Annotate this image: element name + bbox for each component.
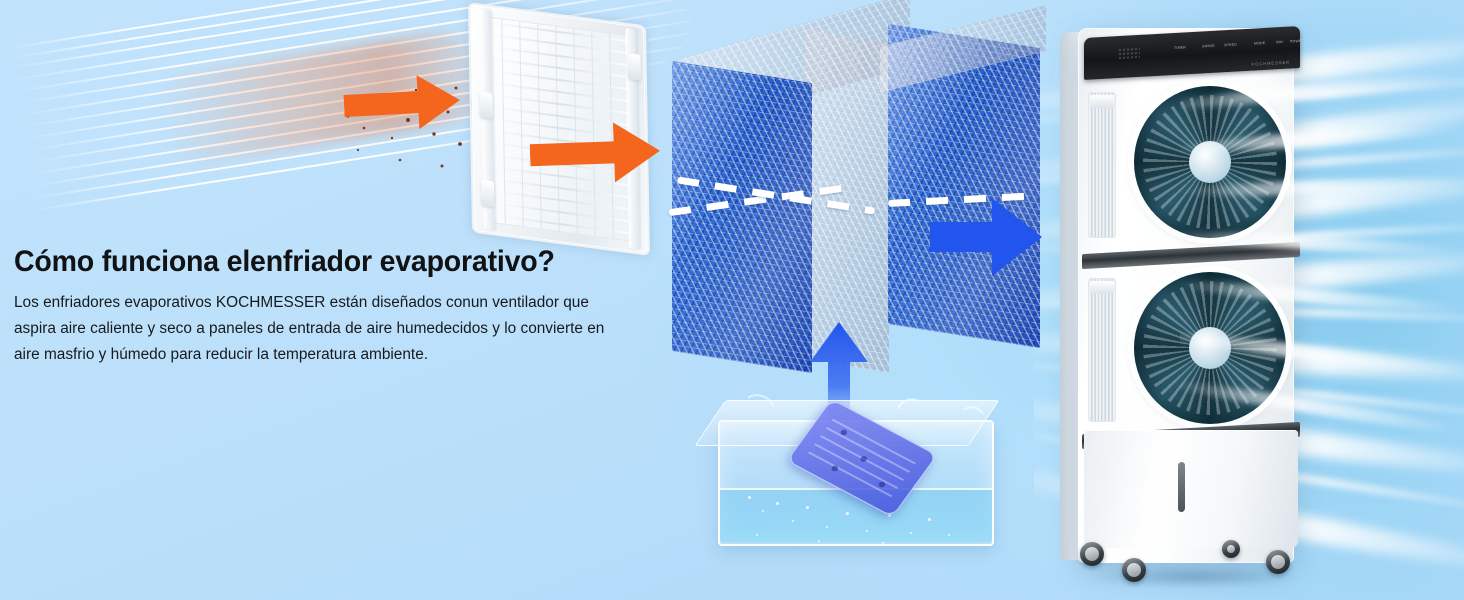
- cooling-pad-1: [672, 61, 812, 373]
- panel-button-speed[interactable]: SPEED: [1224, 42, 1237, 47]
- text-block: Cómo funciona elenfriador evaporativo? L…: [14, 246, 634, 368]
- hot-air-arrow-1: [342, 69, 461, 137]
- caster-4: [1266, 550, 1290, 574]
- caster-2: [1122, 558, 1146, 582]
- caster-1: [1080, 542, 1104, 566]
- page-title: Cómo funciona elenfriador evaporativo?: [14, 246, 603, 278]
- side-intake-vent-upper: [1088, 92, 1116, 238]
- hot-air-arrow-2: [529, 116, 661, 190]
- fan-upper: [1134, 86, 1286, 238]
- panel-button-mode[interactable]: MODE: [1254, 41, 1265, 46]
- evaporative-cooler-unit: TIMER SWING SPEED MODE ION POWER KOCHMES…: [1060, 10, 1310, 585]
- panel-button-ion[interactable]: ION: [1276, 40, 1283, 44]
- water-tank-drawer[interactable]: [1084, 430, 1298, 548]
- panel-button-power[interactable]: POWER: [1290, 39, 1304, 44]
- brand-mark: KOCHMESSER: [1252, 60, 1290, 67]
- cool-air-arrow-right: [930, 196, 1042, 278]
- display-dots: [1118, 47, 1140, 60]
- body-paragraph: Los enfriadores evaporativos KOCHMESSER …: [14, 290, 614, 368]
- panel-button-timer[interactable]: TIMER: [1174, 45, 1186, 50]
- water-tank: [706, 392, 1006, 564]
- caster-3: [1222, 540, 1240, 558]
- fan-lower: [1134, 272, 1286, 424]
- panel-button-swing[interactable]: SWING: [1202, 44, 1215, 49]
- drawer-handle-icon[interactable]: [1178, 462, 1185, 512]
- side-intake-vent-lower: [1088, 278, 1116, 422]
- infographic-canvas: TIMER SWING SPEED MODE ION POWER KOCHMES…: [0, 0, 1464, 600]
